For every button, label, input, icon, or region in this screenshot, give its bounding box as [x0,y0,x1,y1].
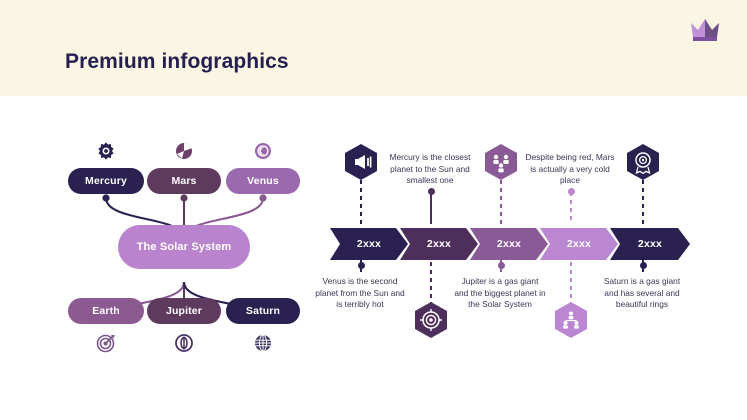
connector-dot [568,188,575,195]
timeline-step-2-text: Mercury is the closest planet to the Sun… [384,152,476,187]
mindmap-node-label: Saturn [246,305,280,317]
connector-line [642,180,644,224]
mindmap-node-label: Earth [92,305,120,317]
coin-icon [174,333,194,353]
connector-line [642,260,644,272]
connector-line [570,192,572,224]
mindmap-center-label: The Solar System [137,241,232,253]
connector-dot [428,188,435,195]
mindmap-node-label: Mercury [85,175,127,187]
slide-canvas: Premium infographics [0,0,747,420]
mindmap-center-node[interactable]: The Solar System [118,225,250,269]
sun-gear-icon [96,141,116,161]
timeline-step-1[interactable]: 2xxx [330,228,408,260]
timeline-step-3-text: Jupiter is a gas giant and the biggest p… [454,276,546,311]
timeline-step-5[interactable]: 2xxx [610,228,690,260]
megaphone-icon [345,144,377,180]
timeline-step-3[interactable]: 2xxx [470,228,548,260]
mindmap-node-mars[interactable]: Mars [147,168,221,194]
hierarchy-icon [555,302,587,338]
globe-grid-icon [253,333,273,353]
connector-line [570,262,572,304]
timeline-step-4[interactable]: 2xxx [540,228,618,260]
connector-line [360,260,362,272]
planet-mars-icon [174,141,194,161]
mindmap-node-saturn[interactable]: Saturn [226,298,300,324]
timeline-step-label: 2xxx [357,238,381,250]
timeline-step-label: 2xxx [567,238,591,250]
connector-line [500,260,502,272]
timeline-step-label: 2xxx [638,238,662,250]
mindmap-node-mercury[interactable]: Mercury [68,168,144,194]
target-icon [96,333,116,353]
award-badge-icon [627,144,659,180]
connector-line [430,192,432,224]
mindmap-node-earth[interactable]: Earth [68,298,144,324]
timeline-step-2[interactable]: 2xxx [400,228,478,260]
connector-line [430,262,432,304]
timeline-step-5-text: Saturn is a gas giant and has several an… [596,276,688,311]
group-people-icon [485,144,517,180]
mindmap-node-label: Jupiter [166,305,202,317]
planet-venus-icon [253,141,273,161]
page-title: Premium infographics [65,50,289,74]
mindmap-node-label: Mars [171,175,196,187]
target-badge-icon [415,302,447,338]
crown-logo [688,14,722,44]
header-band [0,0,747,96]
timeline-step-1-text: Venus is the second planet from the Sun … [314,276,406,311]
mindmap-node-venus[interactable]: Venus [226,168,300,194]
connector-line [500,180,502,224]
mindmap-node-jupiter[interactable]: Jupiter [147,298,221,324]
mindmap-node-label: Venus [247,175,279,187]
timeline-step-label: 2xxx [497,238,521,250]
timeline-step-4-text: Despite being red, Mars is actually a ve… [524,152,616,187]
connector-line [360,180,362,224]
timeline-container: 2xxx 2xxx 2xxx 2xxx 2xxx [330,136,690,346]
timeline-step-label: 2xxx [427,238,451,250]
